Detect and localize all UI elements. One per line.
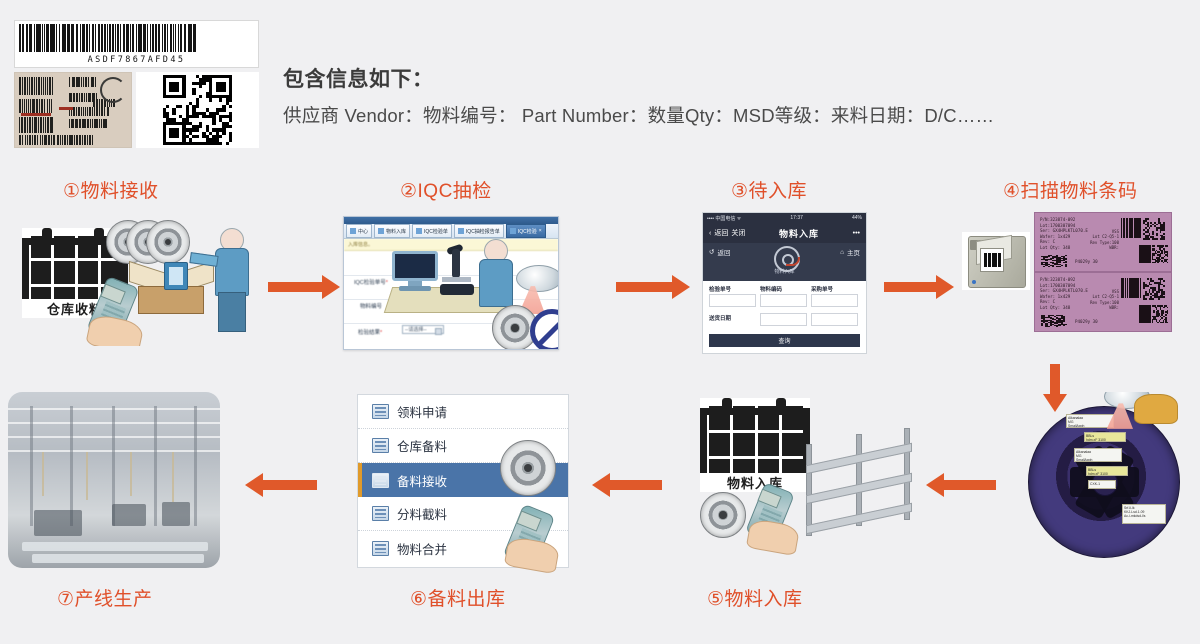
label-barcode-b	[1139, 245, 1151, 263]
label-barcode-a	[1121, 278, 1141, 298]
illustration-step-1-material-receiving: 仓库收料	[14, 214, 264, 346]
document-icon	[372, 404, 389, 419]
phone-sub-header: ↺ 返回 ⌂ 主页 物料入库	[703, 243, 866, 281]
menu-item-label-4: 物料合并	[397, 539, 447, 558]
iqc-result-select[interactable]: --请选择--	[402, 325, 444, 334]
hand-icon	[1134, 394, 1178, 424]
iqc-tab-0[interactable]: 中心	[346, 224, 372, 238]
label-left-text: P/N:323874-092 Lot:1700307094 Ser: GX4HP…	[1040, 277, 1088, 311]
inbox-icon	[372, 473, 389, 488]
sub-back-button[interactable]: ↺ 返回	[709, 247, 730, 257]
caption-step-1: ①物料接收	[63, 176, 159, 203]
arrow-step5-to-step6	[592, 473, 662, 497]
label-right-text: VSS Lot C2-Q5-1 Rev Type:100 WBR:	[1090, 289, 1119, 311]
tab-icon	[510, 228, 516, 234]
phone-input-3[interactable]	[760, 313, 807, 326]
iqc-tab-label-3: IQC抽检报告单	[466, 228, 500, 235]
reel-label-1: BBLs hdm.xF 3100	[1084, 432, 1126, 442]
reel-label-2: Alkanalaa MG SmallApph	[1074, 448, 1122, 462]
label-barcode-a	[1121, 218, 1141, 238]
tab-icon	[416, 228, 422, 234]
sub-back-label: 返回	[717, 247, 730, 257]
barcode-header-block: ASDF7867AFD45	[14, 20, 259, 148]
arrow-step3-to-step4	[884, 275, 954, 299]
nav-left-group[interactable]: ‹ 返回 关闭	[709, 228, 745, 238]
reel-label-5: Srf-li-lk KKJ-Lsd.1.09 Ac-i-mkdsd-l/s	[1122, 504, 1166, 524]
phone-submit-button[interactable]: 查询	[709, 334, 860, 347]
iqc-tab-4[interactable]: IQC检验×	[506, 224, 546, 238]
worker-figure	[206, 228, 256, 332]
inbound-badge-icon	[771, 245, 799, 267]
reel-icon-step6	[500, 440, 556, 496]
tab-icon	[378, 228, 384, 234]
reel-icon-c	[146, 220, 190, 264]
label-text: IQC检验单号	[354, 280, 386, 286]
nav-back-label[interactable]: 返回	[714, 228, 728, 238]
iqc-tab-2[interactable]: IQC检验单	[412, 224, 452, 238]
phone-input-4[interactable]	[811, 313, 858, 326]
label-datamatrix-b	[1152, 305, 1168, 323]
barcode-bars	[19, 24, 254, 52]
iqc-tab-label-1: 物料入库	[386, 228, 406, 235]
merge-icon	[372, 541, 389, 556]
qr-code-grid	[163, 75, 233, 145]
arrow-step6-to-step7	[245, 473, 317, 497]
phone-input-1[interactable]	[760, 294, 807, 307]
label-barcode-b	[1139, 305, 1151, 323]
iqc-tab-3[interactable]: IQC抽检报告单	[454, 224, 504, 238]
iqc-tab-label-2: IQC检验单	[424, 228, 448, 235]
sub-caption: 物料入库	[703, 268, 866, 275]
menu-item-label-3: 分料截料	[397, 504, 447, 523]
reel-icon-step5	[700, 492, 746, 538]
cut-icon	[372, 506, 389, 521]
tab-icon	[350, 228, 356, 234]
label-datamatrix-c	[1041, 255, 1067, 267]
menu-item-label-1: 仓库备料	[397, 436, 447, 455]
iqc-inspection-window[interactable]: 中心 物料入库 IQC检验单 IQC抽检报告单 IQC检验× 入库信息。 IQC…	[343, 216, 559, 350]
microscope-icon	[440, 249, 474, 295]
label-right-text: VSS Lot C2-Q5-1 Rev Type:100 WBR:	[1090, 229, 1119, 251]
caption-step-3: ③待入库	[731, 176, 807, 203]
undo-arrow-icon: ↺	[709, 248, 714, 256]
carrier-label: •••• 中国电信 ᯤ	[707, 215, 741, 222]
window-titlebar	[344, 217, 558, 224]
header-text-block: 包含信息如下： 供应商 Vendor：物料编号： Part Number：数量Q…	[283, 63, 1188, 128]
clock-label: 17:37	[790, 215, 803, 221]
select-value: --请选择--	[405, 327, 427, 333]
label-datamatrix-b	[1152, 245, 1168, 263]
label-printer-icon	[962, 232, 1030, 290]
label-datamatrix-a	[1143, 278, 1165, 300]
iqc-field-label-2: 检验结果*	[358, 328, 382, 336]
swirl-icon	[100, 77, 126, 103]
phone-input-0[interactable]	[709, 294, 756, 307]
illustration-step-5-material-inbound: 物料入库	[694, 392, 914, 568]
header-subtitle: 供应商 Vendor：物料编号： Part Number：数量Qty：MSD等级…	[283, 102, 1188, 128]
calendar-icon-material-inbound: 物料入库	[700, 398, 810, 490]
caption-step-2: ②IQC抽检	[400, 176, 492, 203]
label-datamatrix-c	[1041, 315, 1067, 327]
iqc-tab-bar[interactable]: 中心 物料入库 IQC检验单 IQC抽检报告单 IQC检验×	[344, 224, 558, 239]
phone-field-label-0: 检验单号	[709, 285, 731, 293]
barcode-value-text: ASDF7867AFD45	[15, 55, 258, 65]
close-icon[interactable]: ×	[539, 228, 542, 234]
chevron-left-icon[interactable]: ‹	[709, 230, 711, 237]
label-text: 物料编号	[360, 304, 382, 310]
caption-step-4: ④扫描物料条码	[1003, 176, 1138, 203]
iqc-field-label-0: IQC检验单号*	[354, 278, 388, 286]
printed-label-preview	[980, 248, 1004, 272]
reel-label-4: CXK-1	[1088, 480, 1116, 489]
iqc-tab-label-0: 中心	[358, 228, 368, 235]
phone-field-label-1: 物料编码	[760, 285, 782, 293]
home-icon: ⌂	[840, 249, 844, 256]
barcode-1d: ASDF7867AFD45	[14, 20, 259, 68]
label-footnote: P4029y 30	[1075, 259, 1098, 265]
label-datamatrix-a	[1143, 218, 1165, 240]
phone-nav-bar[interactable]: ‹ 返回 关闭 物料入库 •••	[703, 223, 866, 243]
mobile-app-material-inbound[interactable]: •••• 中国电信 ᯤ 17:37 44% ‹ 返回 关闭 物料入库 ••• ↺…	[702, 212, 867, 354]
hand-icon	[746, 518, 800, 556]
phone-field-label-2: 采购单号	[811, 285, 833, 293]
list-icon	[372, 438, 389, 453]
home-label: 主页	[847, 247, 860, 257]
arrow-step1-to-step2	[268, 275, 340, 299]
mini-barcode	[984, 253, 1001, 267]
menu-item-0[interactable]: 领料申请	[358, 395, 568, 429]
illustration-step-4-reel-scanning: Alkanalaa MG SmallApph BBLs hdm.xF 3100 …	[1022, 392, 1192, 568]
iqc-field-label-1: 物料编号	[360, 302, 382, 310]
label-left-text: P/N:323874-092 Lot:1700307094 Ser: GX4HP…	[1040, 217, 1088, 251]
menu-item-label-2: 备料接收	[397, 471, 447, 490]
phone-status-bar: •••• 中国电信 ᯤ 17:37 44%	[703, 213, 866, 223]
caption-step-7: ⑦产线生产	[57, 584, 153, 611]
more-icon[interactable]: •••	[853, 230, 860, 237]
inspector-figure	[472, 239, 518, 301]
arrow-step5-to-step6-right	[926, 473, 996, 497]
caption-step-5: ⑤物料入库	[707, 584, 803, 611]
label-text: 检验结果	[358, 330, 380, 336]
battery-label: 44%	[852, 215, 862, 221]
blue-package-icon	[164, 262, 188, 290]
material-label-1: P/N:323874-092 Lot:1700307094 Ser: GX4HP…	[1034, 212, 1172, 272]
nav-title: 物料入库	[779, 227, 819, 240]
tab-icon	[458, 228, 464, 234]
label-footnote: P4029y 30	[1075, 319, 1098, 325]
hand-icon	[85, 313, 144, 346]
reel-label-3: BBLs hdm.xF 3100	[1086, 466, 1128, 476]
required-marker: *	[380, 330, 382, 336]
qr-code	[136, 72, 259, 148]
storage-rack-icon	[806, 428, 910, 538]
required-marker: *	[386, 280, 388, 286]
phone-input-2[interactable]	[811, 294, 858, 307]
home-button[interactable]: ⌂ 主页	[840, 247, 860, 257]
computer-monitor-icon	[392, 251, 438, 291]
production-line-photo	[8, 392, 220, 568]
menu-item-label-0: 领料申请	[397, 402, 447, 421]
arrow-step2-to-step3	[616, 275, 690, 299]
iqc-tab-1[interactable]: 物料入库	[374, 224, 410, 238]
phone-field-label-3: 送货日期	[709, 314, 731, 322]
caption-step-6: ⑥备料出库	[410, 584, 506, 611]
nav-close-label[interactable]: 关闭	[731, 228, 745, 238]
material-label-2: P/N:323874-092 Lot:1700307094 Ser: GX4HP…	[1034, 272, 1172, 332]
barcode-label-sheet	[14, 72, 132, 148]
iqc-tab-label-4: IQC检验	[518, 228, 537, 235]
diagram-canvas: ASDF7867AFD45 包含信息如下： 供应商 Vendor：物料编号： P…	[0, 0, 1200, 644]
header-title: 包含信息如下：	[283, 63, 1188, 93]
